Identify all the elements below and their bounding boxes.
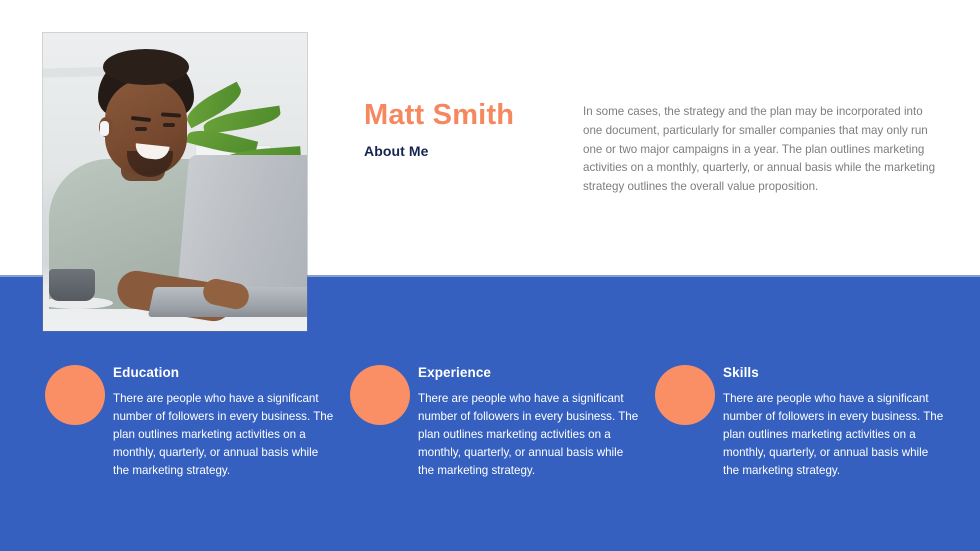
photo-person-eye-left [135,127,147,131]
photo-person-hair-top [103,49,189,85]
info-column-text: Education There are people who have a si… [113,365,335,480]
profile-photo-image [43,33,307,331]
info-column-text: Skills There are people who have a signi… [723,365,945,480]
page-title: Matt Smith [364,99,514,132]
photo-coffee-cup [49,269,95,301]
filled-circle-icon [655,365,715,425]
info-column-body: There are people who have a significant … [418,390,640,480]
page-subtitle: About Me [364,143,514,159]
photo-person-eye-right [163,123,175,127]
info-column-title: Skills [723,365,945,380]
filled-circle-icon [45,365,105,425]
info-column-body: There are people who have a significant … [113,390,335,480]
profile-photo [43,33,307,331]
photo-person-earbud [100,121,109,136]
info-column-body: There are people who have a significant … [723,390,945,480]
intro-paragraph: In some cases, the strategy and the plan… [583,103,939,197]
profile-name-block: Matt Smith About Me [364,99,514,159]
slide-canvas: Matt Smith About Me In some cases, the s… [0,0,980,551]
photo-laptop-screen [177,155,307,295]
info-column-title: Experience [418,365,640,380]
info-column-text: Experience There are people who have a s… [418,365,640,480]
info-column-title: Education [113,365,335,380]
filled-circle-icon [350,365,410,425]
